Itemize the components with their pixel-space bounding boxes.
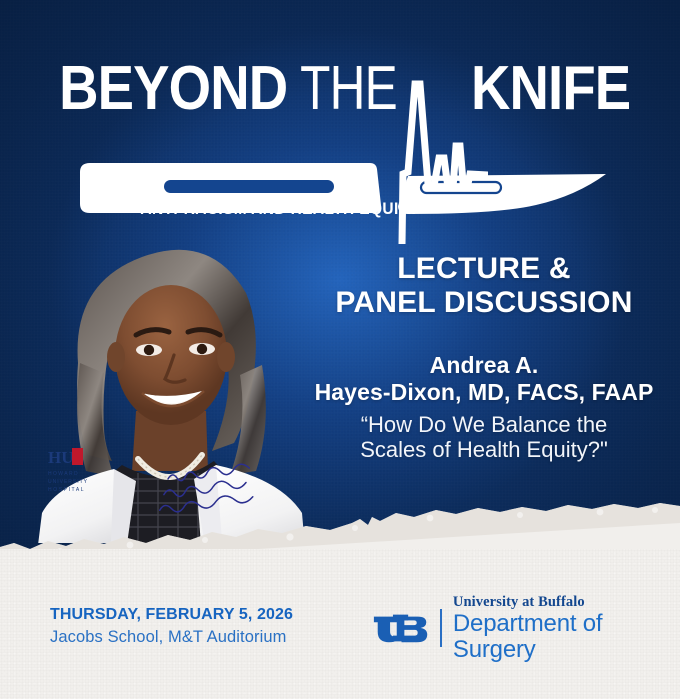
talk-title-line-2: Scales of Health Equity?" [296, 437, 672, 462]
talk-title-line-1: “How Do We Balance the [296, 412, 672, 437]
ub-monogram-icon [372, 611, 431, 645]
svg-text:UNIVERSITY: UNIVERSITY [48, 479, 88, 485]
brand-word-knife: KNIFE [471, 58, 630, 120]
talk-title-quote: “How Do We Balance the Scales of Health … [296, 412, 672, 462]
brand-tagline-row: ANTI-RACISM AND HEALTH EQUITY [20, 200, 659, 219]
brand-word-beyond: BEYOND [59, 58, 287, 120]
event-venue: Jacobs School, M&T Auditorium [50, 628, 350, 647]
speaker-name-line-2: Hayes-Dixon, MD, FACS, FAAP [296, 379, 672, 406]
coat-badge-hu: HU [48, 448, 74, 467]
ub-logo-divider [440, 609, 442, 647]
ub-logo-lockup[interactable]: University at Buffalo Department of Surg… [372, 605, 680, 651]
ub-university-name: University at Buffalo [453, 594, 680, 610]
svg-text:HOSPITAL: HOSPITAL [48, 487, 85, 493]
poster-canvas: BEYONDTHEKNIFE ANTI-RACISM AND HEALTH EQ… [0, 0, 680, 699]
ecg-heartbeat-icon [368, 54, 488, 244]
brand-wordmark: BEYONDTHEKNIFE [0, 58, 680, 120]
svg-text:HOWARD: HOWARD [48, 471, 79, 477]
speaker-name: Andrea A. Hayes-Dixon, MD, FACS, FAAP [296, 352, 672, 406]
ub-logo-wordmark: University at Buffalo Department of Surg… [453, 594, 680, 663]
ub-department-name: Department of Surgery [453, 611, 680, 663]
event-heading: LECTURE & PANEL DISCUSSION [296, 252, 672, 320]
event-details-block: LECTURE & PANEL DISCUSSION Andrea A. Hay… [296, 252, 672, 462]
event-heading-line-1: LECTURE & [296, 252, 672, 286]
speaker-name-line-1: Andrea A. [296, 352, 672, 379]
event-date-block: THURSDAY, FEBRUARY 5, 2026 Jacobs School… [50, 606, 350, 647]
brand-logo-lockup: BEYONDTHEKNIFE ANTI-RACISM AND HEALTH EQ… [0, 58, 680, 230]
event-date: THURSDAY, FEBRUARY 5, 2026 [50, 606, 350, 624]
speaker-portrait: HU HOWARD UNIVERSITY HOSPITAL [18, 243, 322, 543]
event-heading-line-2: PANEL DISCUSSION [296, 286, 672, 320]
